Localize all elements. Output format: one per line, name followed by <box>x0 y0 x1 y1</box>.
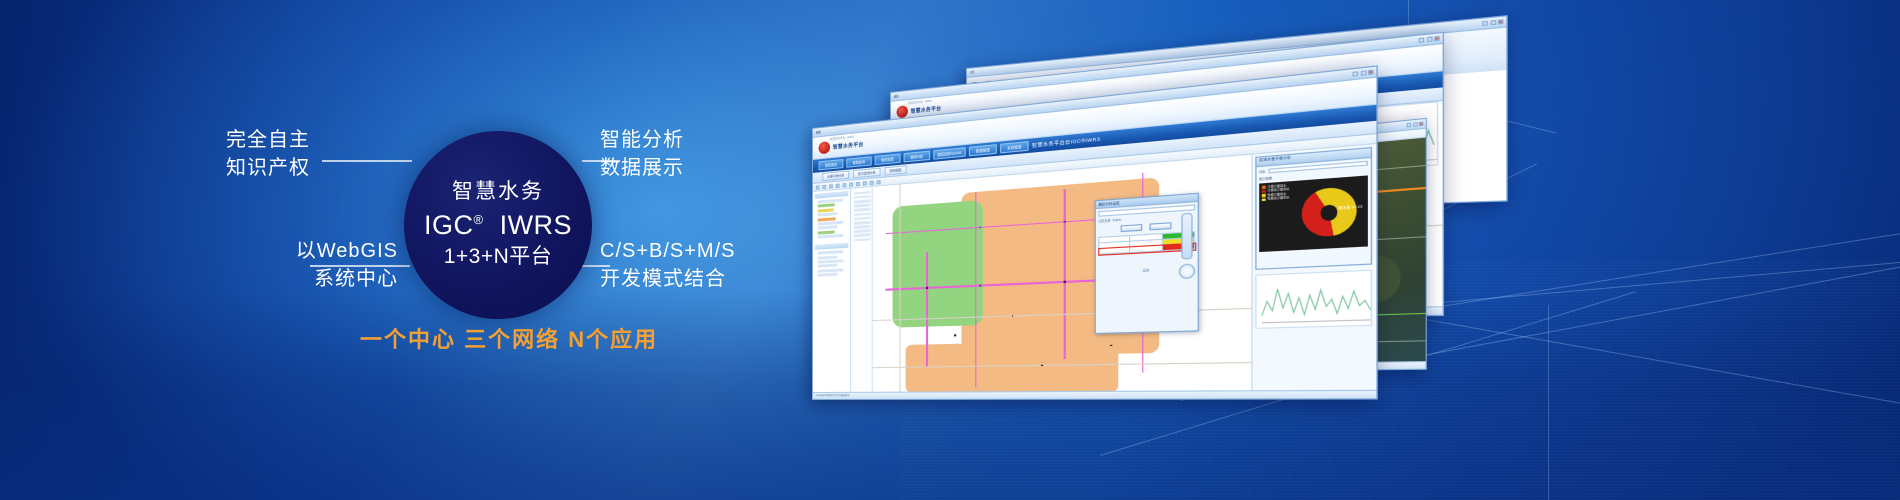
front-window-sparkline <box>1255 270 1372 329</box>
front-window-brand-sub: 智慧水务平台｜IWRS <box>830 135 854 142</box>
dialog-cancel-button[interactable] <box>1150 222 1172 230</box>
middle-window-menu: 编辑 <box>894 94 899 99</box>
feature-bottom-left-line2: 系统中心 <box>170 265 398 293</box>
product-badge: 智慧水务 IGC® IWRS 1+3+N平台 <box>404 131 592 319</box>
front-window-chart-column: 区域水量平衡分析 分区 统计周期 计费计量用水 计费未计量用水 <box>1251 144 1376 400</box>
front-subtab-1[interactable]: 压力监测分析 <box>853 168 881 179</box>
chart-filter-label: 分区 <box>1259 169 1265 174</box>
print-icon <box>877 179 881 183</box>
new-icon <box>816 185 820 189</box>
feature-bottom-right: C/S+B/S+M/S 开发模式结合 <box>600 237 736 294</box>
front-window-menu: 视图 <box>816 130 821 135</box>
front-tab-3[interactable]: 管网分析 <box>904 151 931 163</box>
hero-banner: 完全自主 知识产权 以WebGIS 系统中心 智能分析 数据展示 C/S+B/S… <box>0 0 1900 500</box>
water-balance-panel[interactable]: 区域水量平衡分析 分区 统计周期 计费计量用水 计费未计量用水 <box>1255 147 1372 270</box>
dialog-ok-button[interactable] <box>1121 224 1143 232</box>
badge-line-3: 1+3+N平台 <box>444 245 553 270</box>
donut-chart-box: 计费计量用水 计费未计量用水 免费计量用水 免费未计量用水 漏水量 52.23 <box>1259 175 1368 252</box>
zoom-in-icon <box>836 183 840 187</box>
front-tab-0[interactable]: 管网普查 <box>819 159 844 170</box>
connector-rule-top-left <box>322 160 412 162</box>
feature-top-left: 完全自主 知识产权 <box>190 126 310 183</box>
company-logo-icon <box>897 105 908 118</box>
window-controls[interactable] <box>1419 36 1440 43</box>
window-controls[interactable] <box>1482 19 1503 26</box>
measure-icon <box>863 181 867 185</box>
badge-brand: IGC <box>424 210 474 240</box>
front-window-map[interactable]: 漏损分析设置 分区名称（DMA） 应用 <box>873 155 1252 400</box>
front-window-statusbar: Copyright 智慧水务平台 版权所有 <box>813 390 1376 399</box>
front-tab-6[interactable]: 系统管理 <box>1000 141 1029 153</box>
front-subtab-0[interactable]: 水量平衡分析 <box>822 171 849 182</box>
front-window-title: 智慧水务平台云IGC®IWRS <box>1032 136 1101 149</box>
middle-window-brand-sub: 智慧水务平台｜IWRS <box>908 99 932 106</box>
front-window-brand: 智慧水务平台 <box>833 141 864 151</box>
screenshot-stack: 文件 管点 管线 阀门 水表 消火栓 泵站 水厂 监测点 用户 DMA分区 压力… <box>790 50 1900 410</box>
badge-line-2: IGC® IWRS <box>424 210 572 242</box>
feature-bottom-right-line1: C/S+B/S+M/S <box>600 237 736 265</box>
front-subtab-2[interactable]: 管网调度 <box>885 165 907 175</box>
window-controls[interactable] <box>1407 121 1424 127</box>
donut-center-label: 漏水量 52.23 <box>1338 204 1362 210</box>
feature-top-left-line2: 知识产权 <box>190 154 310 182</box>
feature-top-right: 智能分析 数据展示 <box>600 126 684 183</box>
open-icon <box>822 184 826 188</box>
ribbon-window-menu: 文件 <box>970 70 975 74</box>
attribute-panel-header <box>815 243 848 250</box>
donut-chart <box>1302 186 1357 238</box>
legend-item-3: 免费未计量用水 <box>1262 196 1290 202</box>
front-tab-5[interactable]: 数据管理 <box>969 144 997 156</box>
registered-icon: ® <box>473 212 483 227</box>
select-icon <box>856 181 860 185</box>
feature-bottom-right-line2: 开发模式结合 <box>600 265 736 293</box>
front-tab-2[interactable]: 管网巡检 <box>875 153 901 165</box>
feature-top-right-line1: 智能分析 <box>600 126 684 154</box>
save-icon <box>829 184 833 188</box>
front-tab-4[interactable]: 漏损控制与DMA <box>933 147 965 160</box>
identify-icon <box>870 180 874 184</box>
front-window-toolpanel[interactable] <box>851 187 873 400</box>
zoom-slider[interactable] <box>1181 213 1192 260</box>
zoom-out-icon <box>842 182 846 186</box>
pan-icon <box>849 182 853 186</box>
company-logo-icon <box>819 141 830 154</box>
donut-legend: 计费计量用水 计费未计量用水 免费计量用水 免费未计量用水 <box>1262 184 1290 203</box>
hero-info-block: 完全自主 知识产权 以WebGIS 系统中心 智能分析 数据展示 C/S+B/S… <box>0 0 800 500</box>
feature-top-left-line1: 完全自主 <box>190 126 310 154</box>
front-sparkline-svg <box>1257 271 1373 329</box>
feature-top-right-line2: 数据展示 <box>600 154 684 182</box>
front-window-status-note: Copyright 智慧水务平台 版权所有 <box>813 394 850 397</box>
front-window-layer-tree[interactable] <box>813 189 851 400</box>
window-controls[interactable] <box>1352 69 1373 76</box>
badge-product: IWRS <box>500 210 573 240</box>
hero-tagline: 一个中心 三个网络 N个应用 <box>360 322 658 354</box>
feature-bottom-left-line1: 以WebGIS <box>170 237 398 265</box>
front-tab-1[interactable]: 管网查询 <box>846 156 871 168</box>
feature-bottom-left: 以WebGIS 系统中心 <box>170 237 398 294</box>
chart-panel-title: 区域水量平衡分析 <box>1257 155 1291 163</box>
badge-line-1: 智慧水务 <box>452 180 544 205</box>
layer-tree-header <box>815 191 848 199</box>
